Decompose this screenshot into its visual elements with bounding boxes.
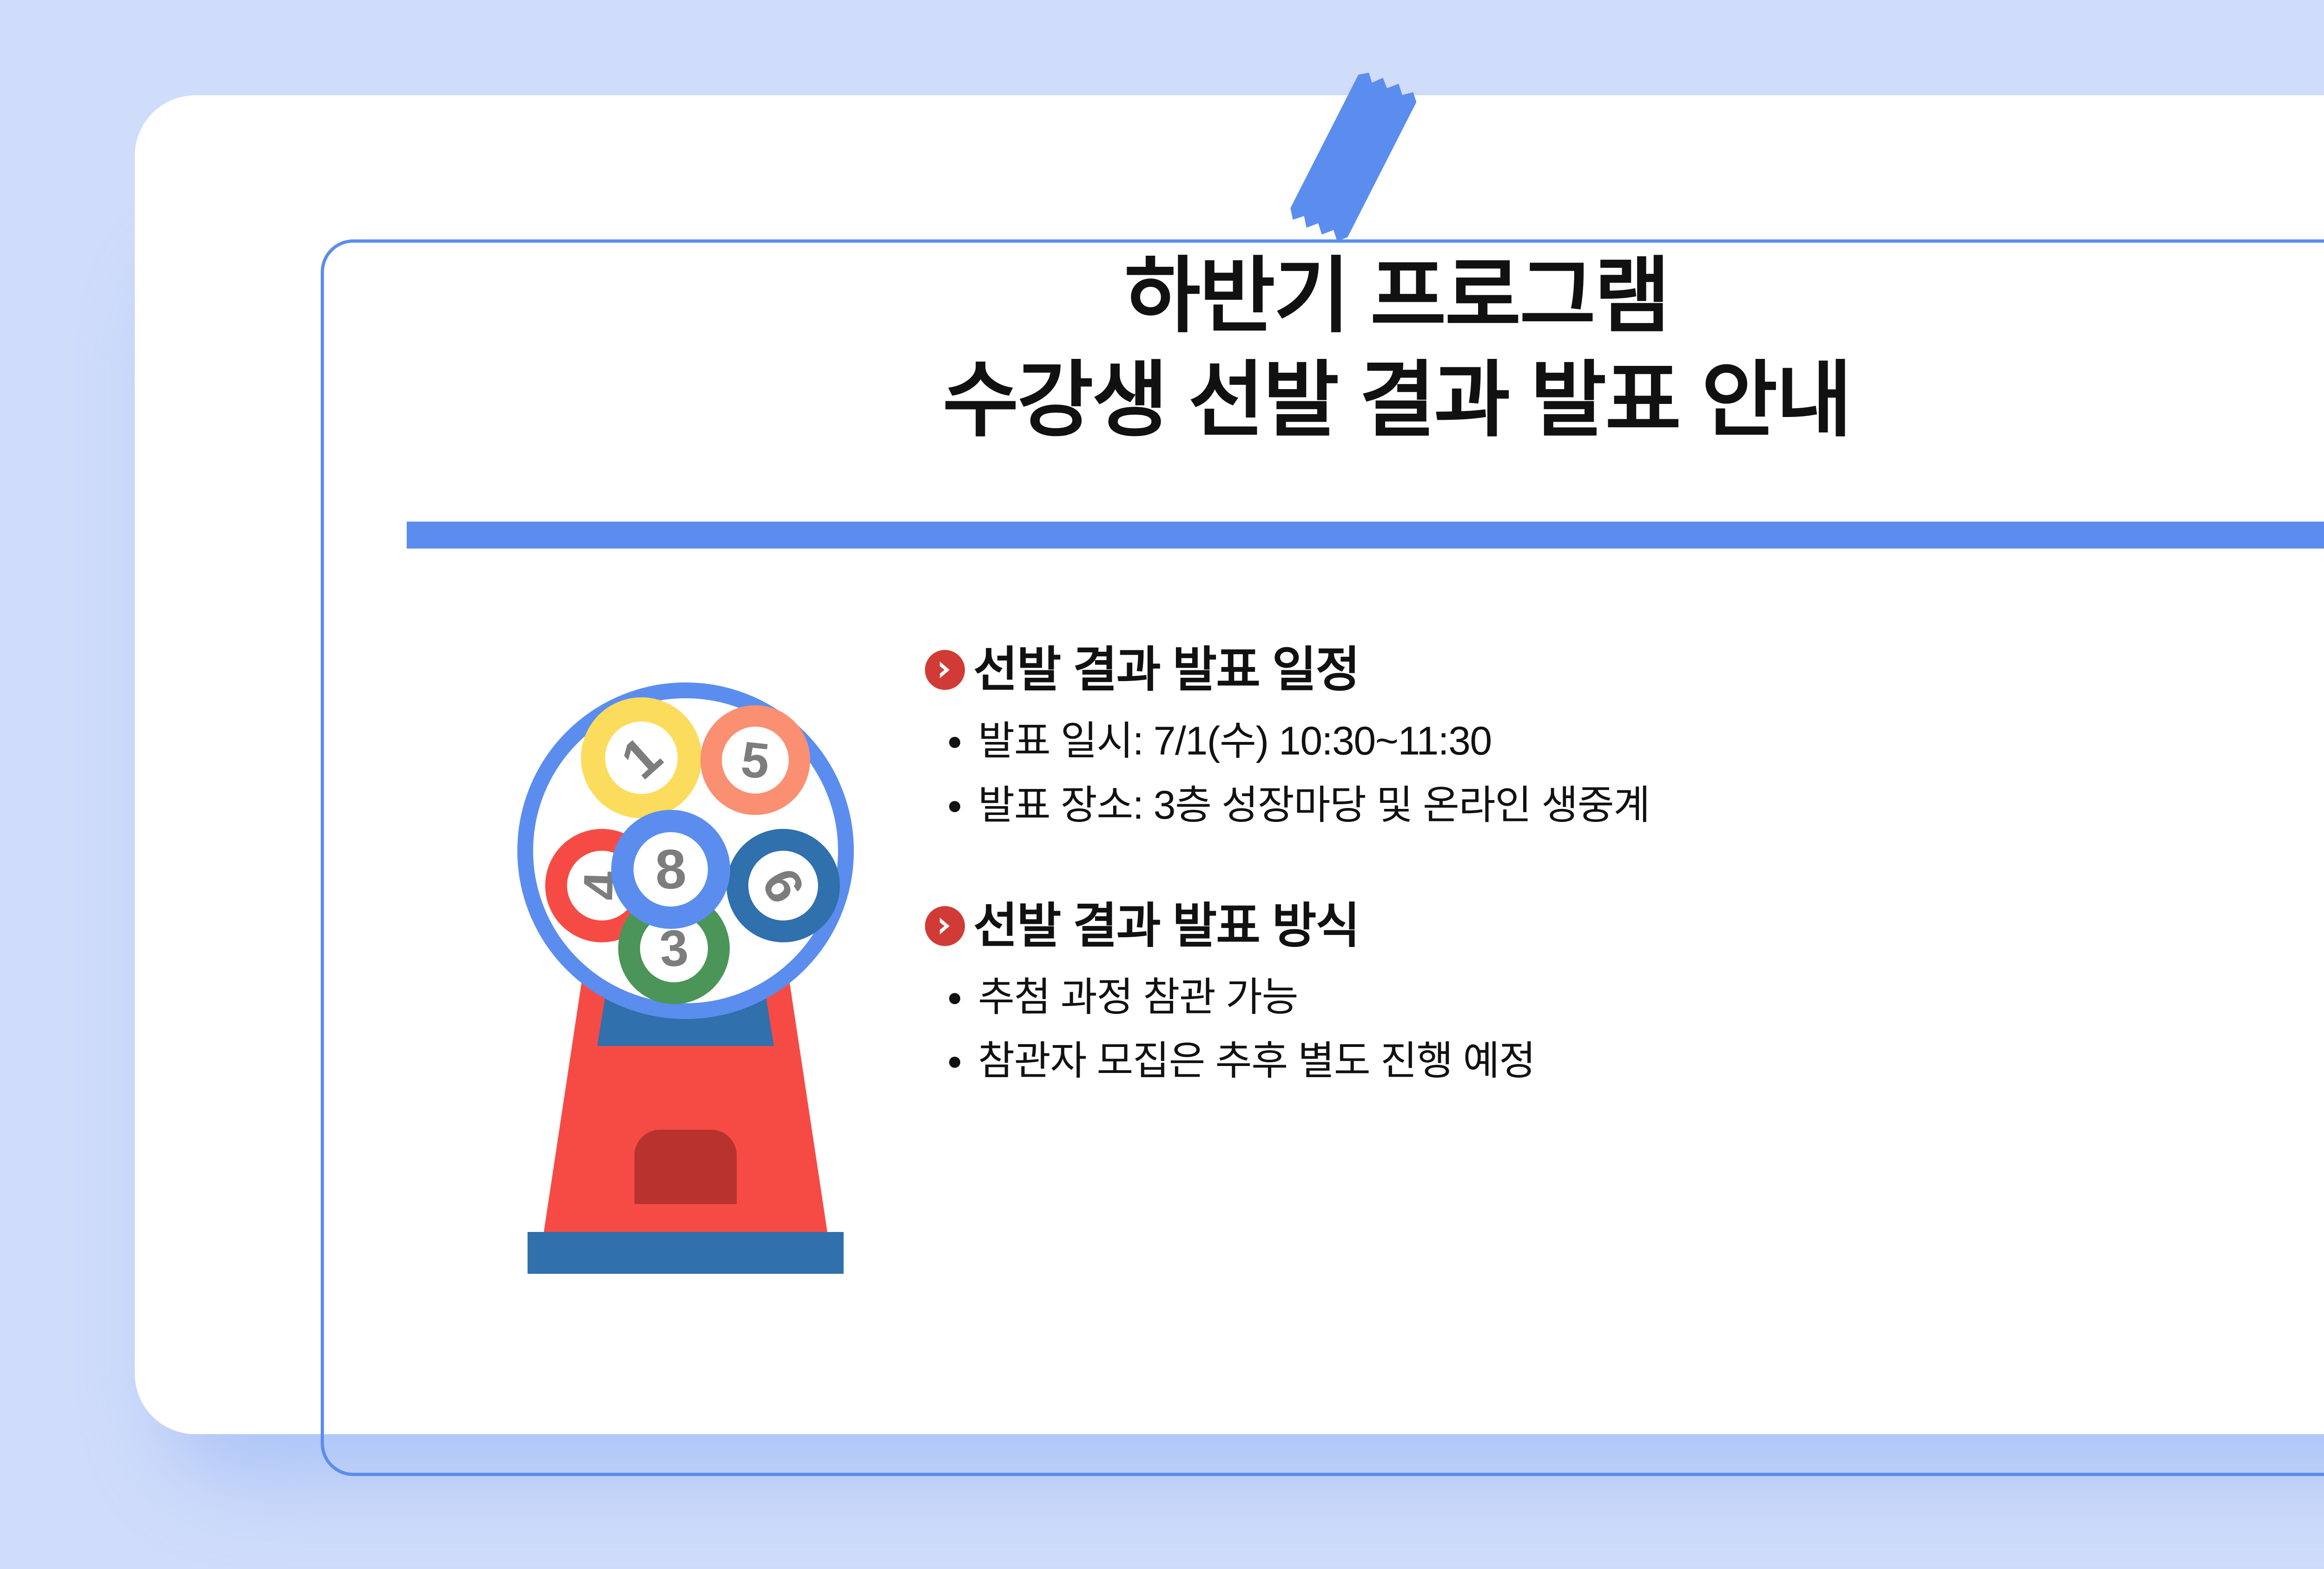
- list-item-text: 추첨 과정 참관 가능: [978, 971, 1298, 1024]
- title-underline-bar: [407, 522, 2324, 549]
- details-column: 선발 결과 발표 일정 발표 일시: 7/1(수) 10:30~11:30 발표…: [925, 644, 2324, 1088]
- page-title: 하반기 프로그램 수강생 선발 결과 발표 안내: [135, 244, 2324, 453]
- list-item: 참관자 모집은 추후 별도 진행 예정: [949, 1034, 2324, 1088]
- bullet-dot-icon: [949, 737, 960, 748]
- gumball-lottery-machine-icon: 1 5 4 3: [502, 628, 869, 1278]
- section-schedule-header: 선발 결과 발표 일정: [925, 644, 2324, 696]
- section-schedule-list: 발표 일시: 7/1(수) 10:30~11:30 발표 장소: 3층 성장마당…: [925, 715, 2324, 832]
- bullet-dot-icon: [949, 1057, 960, 1068]
- section-method-header: 선발 결과 발표 방식: [925, 900, 2324, 952]
- section-schedule-title: 선발 결과 발표 일정: [973, 644, 1359, 696]
- list-item-text: 발표 일시: 7/1(수) 10:30~11:30: [978, 715, 1492, 768]
- section-method: 선발 결과 발표 방식 추첨 과정 참관 가능 참관자 모집은 추후 별도 진행…: [925, 900, 2324, 1088]
- content-row: 1 5 4 3: [135, 618, 2324, 1269]
- section-method-title: 선발 결과 발표 방식: [973, 900, 1359, 952]
- list-item: 추첨 과정 참관 가능: [949, 971, 2324, 1024]
- list-item-text: 발표 장소: 3층 성장마당 및 온라인 생중계: [978, 779, 1650, 832]
- bullet-dot-icon: [949, 801, 960, 812]
- title-line-1: 하반기 프로그램: [135, 244, 2324, 348]
- svg-text:8: 8: [654, 838, 687, 901]
- section-method-list: 추첨 과정 참관 가능 참관자 모집은 추후 별도 진행 예정: [925, 971, 2324, 1088]
- section-schedule: 선발 결과 발표 일정 발표 일시: 7/1(수) 10:30~11:30 발표…: [925, 644, 2324, 832]
- list-item: 발표 일시: 7/1(수) 10:30~11:30: [949, 715, 2324, 768]
- list-item-text: 참관자 모집은 추후 별도 진행 예정: [978, 1034, 1535, 1088]
- chevron-right-badge-icon: [925, 650, 965, 690]
- title-line-2: 수강생 선발 결과 발표 안내: [135, 348, 2324, 452]
- chevron-right-badge-icon: [925, 906, 965, 946]
- poster-stage: 하반기 프로그램 수강생 선발 결과 발표 안내: [0, 0, 2324, 1569]
- svg-text:5: 5: [739, 731, 772, 790]
- list-item: 발표 장소: 3층 성장마당 및 온라인 생중계: [949, 779, 2324, 832]
- bullet-dot-icon: [949, 993, 960, 1004]
